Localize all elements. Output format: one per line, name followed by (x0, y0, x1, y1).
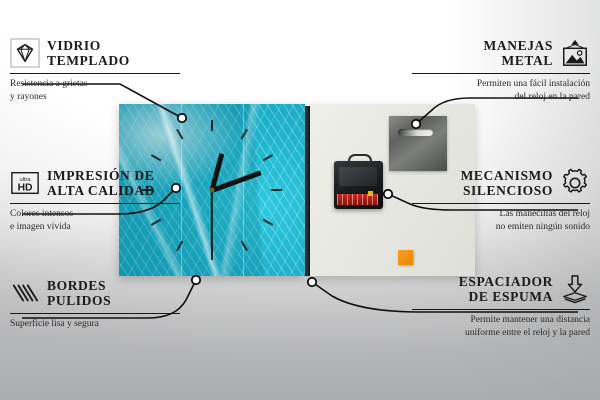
feature-description: Superficie lisa y segura (10, 318, 180, 331)
connector-dot-bordes (192, 276, 200, 284)
feature-header: MANEJAS METAL (412, 38, 590, 69)
feature-desc-line1: Permiten una fácil instalación (412, 78, 590, 91)
clock-tick (241, 241, 248, 252)
foam-spacer (398, 250, 413, 265)
feature-title-line2: PULIDOS (47, 293, 111, 308)
feature-title-line1: MANEJAS (484, 38, 553, 53)
feature-divider (412, 309, 590, 310)
feature-description: Permite mantener una distancia uniforme … (412, 314, 590, 340)
feature-bordes-pulidos: BORDES PULIDOS Superficie lisa y segura (10, 278, 180, 331)
feature-description: Permiten una fácil instalación del reloj… (412, 78, 590, 104)
clock-pivot (210, 188, 215, 193)
clock-tick (241, 129, 248, 140)
feature-title: BORDES PULIDOS (47, 278, 111, 309)
feature-desc-line1: Las manecillas del reloj (412, 208, 590, 221)
feature-title-line2: ALTA CALIDAD (47, 183, 155, 198)
feature-desc-line1: Permite mantener una distancia (412, 314, 590, 327)
feature-divider (10, 73, 180, 74)
feature-divider (412, 203, 590, 204)
infographic-canvas: VIDRIO TEMPLADO Resistencia a grietas y … (0, 0, 600, 400)
clock-tick (211, 249, 213, 260)
feature-desc-line2: no emiten ningún sonido (412, 221, 590, 234)
clock-tick (271, 189, 282, 191)
feature-title-line1: VIDRIO (47, 38, 130, 53)
movement-plate (339, 167, 377, 186)
feature-manejas-metal: MANEJAS METAL Permiten una fácil instala… (412, 38, 590, 104)
feature-description: Las manecillas del reloj no emiten ningú… (412, 208, 590, 234)
feature-title-line1: ESPACIADOR (459, 274, 553, 289)
wall-mount-frame-icon (560, 38, 590, 68)
feature-description: Resistencia a grietas y rayones (10, 78, 180, 104)
feature-header: ultra HD IMPRESIÓN DE ALTA CALIDAD (10, 168, 180, 199)
feature-title: ESPACIADOR DE ESPUMA (459, 274, 553, 305)
feature-divider (10, 203, 180, 204)
feature-impresion-alta-calidad: ultra HD IMPRESIÓN DE ALTA CALIDAD Color… (10, 168, 180, 234)
battery-stripes (337, 194, 378, 205)
battery (337, 194, 378, 205)
feature-header: VIDRIO TEMPLADO (10, 38, 180, 69)
feature-title: IMPRESIÓN DE ALTA CALIDAD (47, 168, 155, 199)
gear-icon (560, 168, 590, 198)
feature-divider (10, 313, 180, 314)
movement-loop (348, 154, 372, 166)
feature-title-line2: SILENCIOSO (461, 183, 553, 198)
feature-desc-line1: Colores intensos (10, 208, 180, 221)
feature-title-line2: METAL (484, 53, 553, 68)
feature-title-line2: TEMPLADO (47, 53, 130, 68)
feature-espaciador-de-espuma: ESPACIADOR DE ESPUMA Permite mantener un… (412, 274, 590, 340)
feature-header: BORDES PULIDOS (10, 278, 180, 309)
clock-tick (176, 241, 183, 252)
feature-divider (412, 73, 590, 74)
clock-tick (263, 219, 274, 226)
feature-description: Colores intensos e imagen vívida (10, 208, 180, 234)
feature-title: MECANISMO SILENCIOSO (461, 168, 553, 199)
polished-edges-icon (10, 278, 40, 308)
feature-header: MECANISMO SILENCIOSO (412, 168, 590, 199)
feature-desc-line1: Superficie lisa y segura (10, 318, 180, 331)
feature-desc-line2: y rayones (10, 91, 180, 104)
feature-title-line1: IMPRESIÓN DE (47, 168, 155, 183)
feature-desc-line2: e imagen vívida (10, 221, 180, 234)
ultra-hd-icon-big-label: HD (18, 183, 33, 194)
foam-spacer-icon (560, 274, 590, 304)
clock-tick (211, 120, 213, 131)
clock-movement (334, 161, 383, 209)
feature-title-line1: MECANISMO (461, 168, 553, 183)
feature-desc-line1: Resistencia a grietas (10, 78, 180, 91)
feature-title: VIDRIO TEMPLADO (47, 38, 130, 69)
clock-hand (211, 190, 213, 250)
connector-dot-espaciador (308, 278, 316, 286)
clock-tick (263, 154, 274, 161)
ultra-hd-icon: ultra HD (10, 168, 40, 198)
hanger-slot (398, 129, 433, 136)
feature-mecanismo-silencioso: MECANISMO SILENCIOSO Las manecillas del … (412, 168, 590, 234)
feature-header: ESPACIADOR DE ESPUMA (412, 274, 590, 305)
diamond-icon (10, 38, 40, 68)
clock-tick (151, 154, 162, 161)
metal-hanger-plate (389, 116, 447, 171)
feature-title-line2: DE ESPUMA (459, 289, 553, 304)
feature-desc-line2: del reloj en la pared (412, 91, 590, 104)
feature-desc-line2: uniforme entre el reloj y la pared (412, 327, 590, 340)
feature-title-line1: BORDES (47, 278, 111, 293)
feature-title: MANEJAS METAL (484, 38, 553, 69)
clock-tick (176, 129, 183, 140)
feature-vidrio-templado: VIDRIO TEMPLADO Resistencia a grietas y … (10, 38, 180, 104)
